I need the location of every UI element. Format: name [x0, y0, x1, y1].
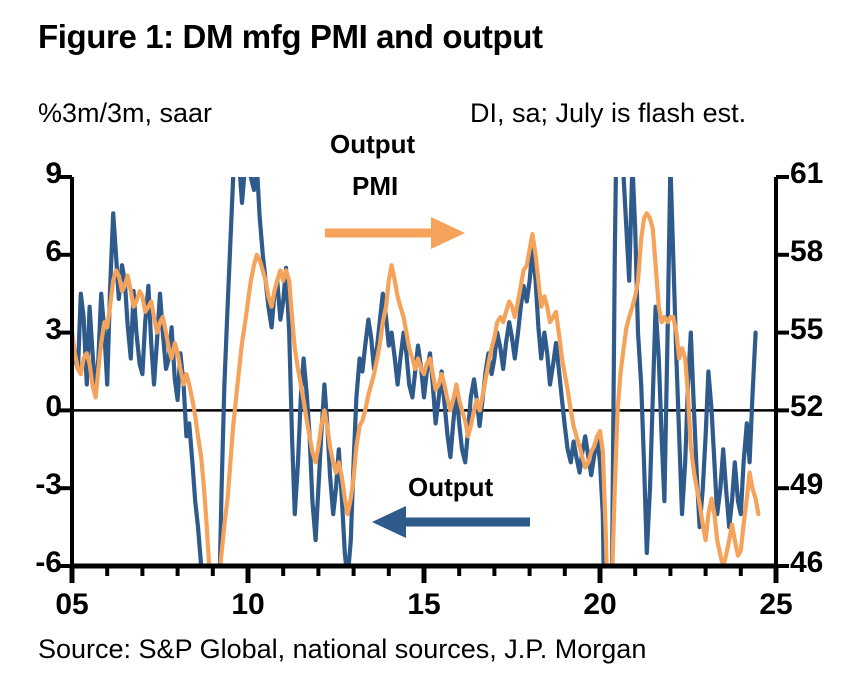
right-axis-label: 55 [790, 313, 823, 347]
right-axis-label: 52 [790, 390, 823, 424]
left-axis-label: 6 [45, 235, 62, 269]
x-axis-label: 20 [570, 588, 630, 622]
right-axis-label: 46 [790, 546, 823, 580]
x-axis-label: 15 [394, 588, 454, 622]
left-axis-label: -3 [35, 468, 62, 502]
left-axis-label: -6 [35, 546, 62, 580]
left-axis-label: 0 [45, 390, 62, 424]
source-note: Source: S&P Global, national sources, J.… [38, 634, 646, 665]
right-axis-label: 58 [790, 235, 823, 269]
arrow-left-output-head [372, 506, 406, 538]
x-axis-label: 10 [218, 588, 278, 622]
figure-container: Figure 1: DM mfg PMI and output %3m/3m, … [0, 0, 852, 689]
arrow-right-output-pmi-head [431, 217, 465, 249]
x-axis-label: 05 [42, 588, 102, 622]
x-axis-label: 25 [746, 588, 806, 622]
chart-plot-area [0, 0, 852, 689]
right-axis-label: 61 [790, 157, 823, 191]
left-axis-label: 9 [45, 157, 62, 191]
right-axis-label: 49 [790, 468, 823, 502]
left-axis-label: 3 [45, 313, 62, 347]
